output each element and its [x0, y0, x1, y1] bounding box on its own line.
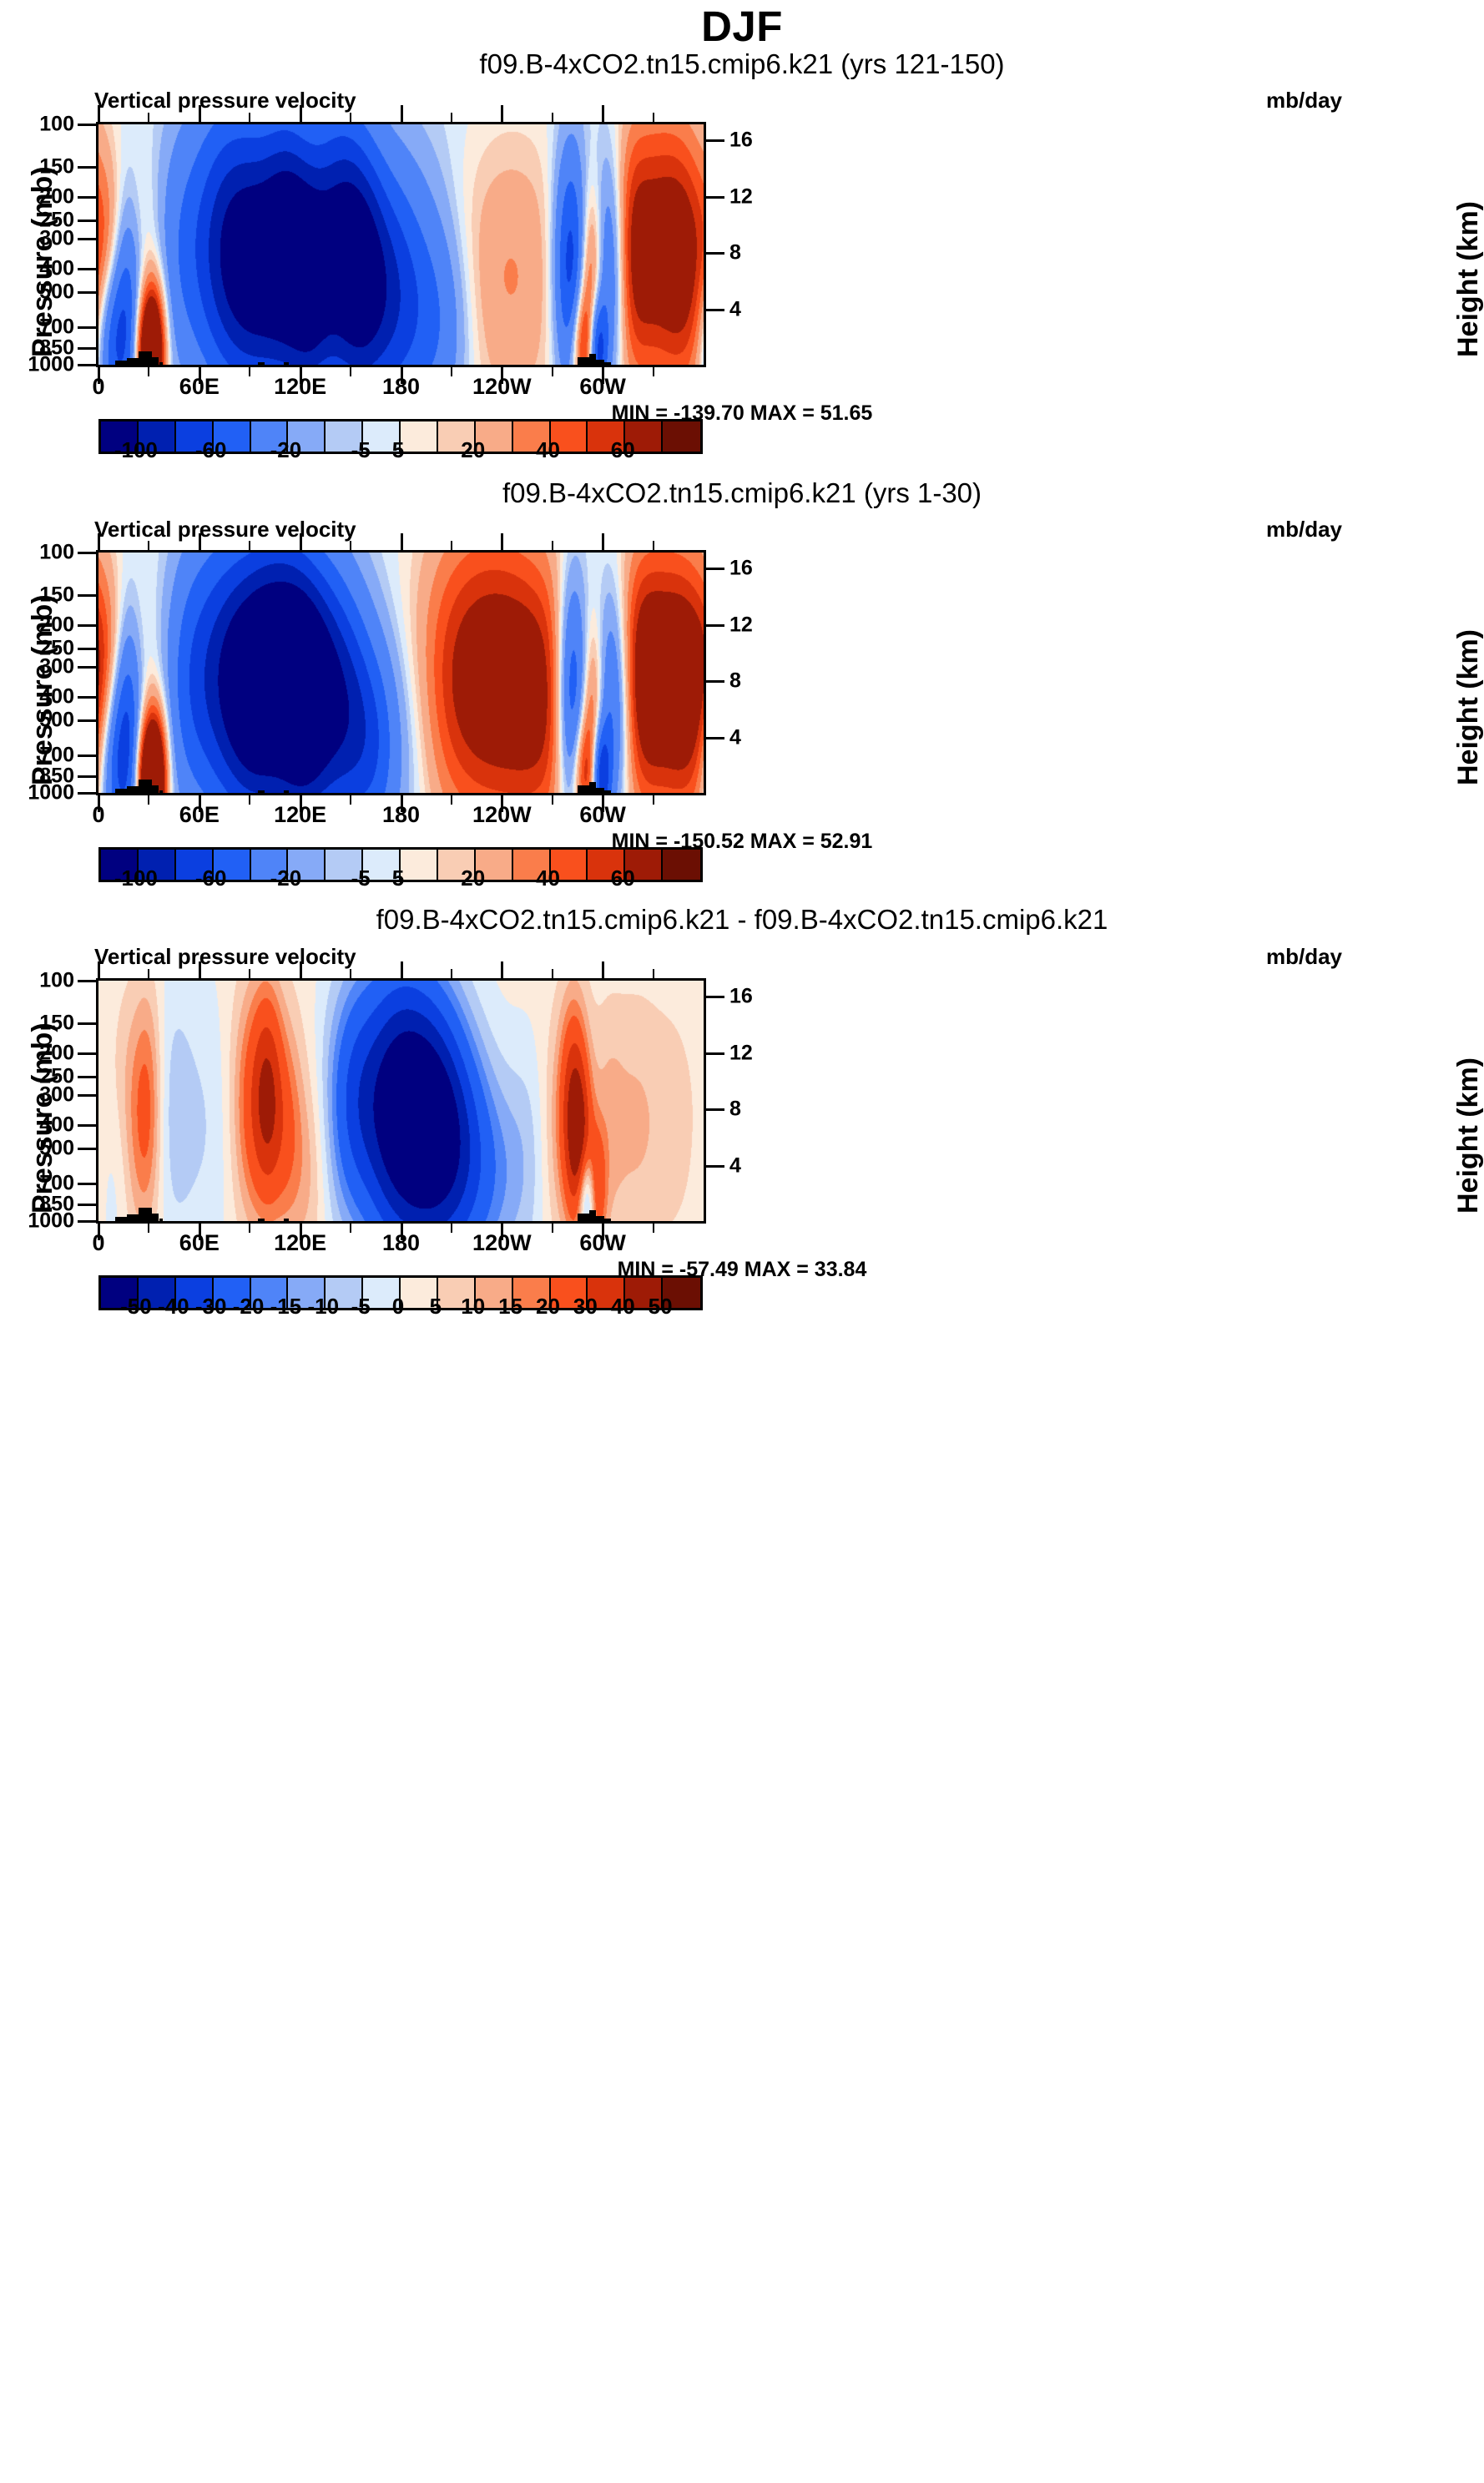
colorbar-label: 20 — [461, 866, 485, 891]
topography-mask — [258, 1219, 265, 1221]
x-tick-mark-top — [98, 533, 100, 550]
x-tick-mark-minor-top — [148, 113, 149, 122]
pressure-tick-mark — [78, 1124, 96, 1127]
x-tick-mark-minor-top — [552, 541, 553, 550]
colorbar-label: 40 — [611, 1294, 635, 1320]
topography-mask — [578, 1214, 589, 1221]
x-tick-mark-minor — [350, 1224, 351, 1233]
height-tick-mark — [706, 1108, 724, 1111]
height-tick-mark — [706, 196, 724, 199]
x-tick-mark-minor-top — [653, 541, 654, 550]
pressure-tick-mark — [78, 347, 96, 350]
x-tick-mark-minor — [451, 367, 452, 376]
topography-mask — [159, 1219, 163, 1221]
height-tick-label: 4 — [729, 726, 741, 750]
pressure-tick-mark — [78, 696, 96, 699]
x-tick-mark-top — [300, 105, 302, 122]
pressure-tick-mark — [78, 1220, 96, 1223]
x-tick-mark-minor — [148, 1224, 149, 1233]
colorbar-label: 5 — [430, 1294, 442, 1320]
x-tick-mark-top — [401, 961, 403, 978]
colorbar-cell — [401, 421, 438, 452]
height-tick-label: 12 — [729, 613, 753, 637]
height-tick-label: 16 — [729, 557, 753, 581]
colorbar-label: -20 — [270, 866, 302, 891]
topography-mask — [139, 351, 152, 365]
y-axis-title-left: Pressure (mb) — [27, 594, 59, 785]
topography-mask — [578, 785, 589, 793]
x-tick-mark-minor — [653, 795, 654, 805]
topography-mask — [115, 1217, 127, 1221]
x-tick-mark-minor — [249, 367, 250, 376]
pressure-tick-mark — [78, 124, 96, 126]
contour-field — [98, 124, 704, 365]
pressure-tick-mark — [78, 268, 96, 270]
pressure-tick-label: 100 — [39, 541, 74, 565]
plot-area — [96, 122, 706, 367]
topography-mask — [284, 1219, 289, 1221]
x-tick-label: 60E — [179, 802, 220, 828]
topography-mask — [127, 358, 139, 365]
x-tick-label: 120W — [472, 374, 532, 400]
height-tick-label: 8 — [729, 669, 741, 694]
pressure-tick-mark — [78, 166, 96, 169]
topography-mask — [115, 789, 127, 793]
colorbar-label: -15 — [270, 1294, 302, 1320]
height-tick-mark — [706, 309, 724, 311]
x-tick-mark-minor-top — [552, 113, 553, 122]
pressure-tick-mark — [78, 1148, 96, 1150]
pressure-tick-label: 100 — [39, 113, 74, 137]
pressure-tick-mark — [78, 552, 96, 554]
topography-mask — [127, 786, 139, 793]
x-tick-label: 180 — [382, 802, 420, 828]
x-tick-label: 60W — [579, 374, 626, 400]
colorbar-label: 40 — [536, 437, 560, 463]
x-tick-label: 0 — [92, 802, 104, 828]
y-axis-title-right: Height (km) — [1452, 201, 1484, 357]
colorbar-label: -5 — [351, 866, 371, 891]
units-label: mb/day — [1266, 88, 1342, 114]
height-tick-label: 8 — [729, 241, 741, 265]
colorbar-label: -5 — [351, 1294, 371, 1320]
height-tick-mark — [706, 1165, 724, 1168]
x-tick-mark-minor-top — [451, 113, 452, 122]
pressure-tick-mark — [78, 1052, 96, 1055]
pressure-tick-mark — [78, 238, 96, 240]
units-label: mb/day — [1266, 517, 1342, 543]
x-tick-mark-minor — [148, 795, 149, 805]
colorbar-label: -100 — [114, 866, 158, 891]
colorbar-label: 40 — [536, 866, 560, 891]
main-title: DJF — [0, 2, 1484, 51]
height-tick-label: 12 — [729, 184, 753, 209]
colorbar-label: 20 — [536, 1294, 560, 1320]
pressure-tick-mark — [78, 792, 96, 795]
colorbar-label: 20 — [461, 437, 485, 463]
variable-label: Vertical pressure velocity — [94, 88, 356, 114]
height-tick-mark — [706, 737, 724, 739]
x-tick-label: 120W — [472, 1230, 532, 1256]
y-axis-title-left: Pressure (mb) — [27, 1022, 59, 1214]
x-tick-mark-top — [199, 961, 201, 978]
x-tick-mark-top — [199, 105, 201, 122]
x-tick-mark-minor-top — [653, 113, 654, 122]
colorbar-label: -50 — [120, 1294, 152, 1320]
x-tick-mark-top — [602, 961, 604, 978]
x-tick-mark-minor-top — [653, 969, 654, 978]
height-tick-mark — [706, 1052, 724, 1055]
x-tick-label: 60W — [579, 802, 626, 828]
topography-mask — [604, 1219, 611, 1221]
x-tick-mark-minor — [148, 367, 149, 376]
pressure-tick-mark — [78, 196, 96, 199]
height-tick-mark — [706, 139, 724, 142]
pressure-tick-mark — [78, 1022, 96, 1025]
x-tick-mark-top — [98, 961, 100, 978]
panel-title: f09.B-4xCO2.tn15.cmip6.k21 - f09.B-4xCO2… — [0, 904, 1484, 936]
x-tick-mark-minor-top — [249, 113, 250, 122]
colorbar-label: -5 — [351, 437, 371, 463]
colorbar-label: 5 — [392, 437, 404, 463]
x-tick-mark-top — [602, 533, 604, 550]
x-tick-mark-top — [501, 533, 503, 550]
x-tick-mark-top — [300, 533, 302, 550]
panel-title: f09.B-4xCO2.tn15.cmip6.k21 (yrs 121-150) — [0, 48, 1484, 80]
x-tick-mark-minor-top — [249, 969, 250, 978]
panel-title: f09.B-4xCO2.tn15.cmip6.k21 (yrs 1-30) — [0, 477, 1484, 509]
pressure-tick-mark — [78, 666, 96, 669]
topography-mask — [127, 1214, 139, 1221]
colorbar-label: 5 — [392, 866, 404, 891]
pressure-tick-mark — [78, 1076, 96, 1078]
x-tick-mark-top — [199, 533, 201, 550]
height-tick-label: 16 — [729, 129, 753, 153]
x-tick-mark-minor-top — [148, 541, 149, 550]
pressure-tick-mark — [78, 648, 96, 650]
pressure-tick-mark — [78, 594, 96, 597]
topography-mask — [159, 790, 163, 793]
x-tick-mark-top — [300, 961, 302, 978]
colorbar-label: 10 — [461, 1294, 485, 1320]
x-tick-label: 180 — [382, 374, 420, 400]
x-tick-mark-minor — [552, 367, 553, 376]
x-tick-mark-minor-top — [249, 541, 250, 550]
colorbar-cell — [401, 850, 438, 880]
topography-mask — [589, 1210, 596, 1221]
topography-mask — [152, 785, 159, 793]
colorbar-label: 60 — [611, 437, 635, 463]
topography-mask — [604, 790, 611, 793]
pressure-tick-mark — [78, 291, 96, 294]
x-tick-label: 60W — [579, 1230, 626, 1256]
units-label: mb/day — [1266, 944, 1342, 970]
topography-mask — [258, 362, 265, 365]
colorbar-label: 60 — [611, 866, 635, 891]
colorbar-label: -60 — [195, 866, 227, 891]
topography-mask — [159, 362, 163, 365]
x-tick-mark-top — [401, 533, 403, 550]
height-tick-label: 16 — [729, 985, 753, 1009]
x-tick-label: 60E — [179, 1230, 220, 1256]
x-tick-mark-minor-top — [350, 541, 351, 550]
variable-label: Vertical pressure velocity — [94, 517, 356, 543]
pressure-tick-mark — [78, 326, 96, 329]
figure-root: DJF f09.B-4xCO2.tn15.cmip6.k21 (yrs 121-… — [0, 0, 1484, 2483]
topography-mask — [596, 1216, 604, 1221]
topography-mask — [152, 357, 159, 365]
topography-mask — [115, 361, 127, 365]
height-tick-mark — [706, 568, 724, 570]
x-tick-label: 120E — [274, 374, 326, 400]
pressure-tick-mark — [78, 754, 96, 757]
x-tick-mark-minor-top — [350, 113, 351, 122]
height-tick-mark — [706, 680, 724, 683]
x-tick-label: 0 — [92, 374, 104, 400]
colorbar-label: -20 — [270, 437, 302, 463]
x-tick-mark-top — [98, 105, 100, 122]
y-axis-title-left: Pressure (mb) — [27, 166, 59, 357]
pressure-tick-mark — [78, 1094, 96, 1097]
contour-field — [98, 981, 704, 1221]
colorbar-cell — [663, 421, 700, 452]
y-axis-title-right: Height (km) — [1452, 1057, 1484, 1214]
x-tick-mark-minor — [350, 795, 351, 805]
x-tick-mark-minor-top — [451, 969, 452, 978]
height-tick-mark — [706, 252, 724, 255]
colorbar-label: 50 — [649, 1294, 673, 1320]
variable-label: Vertical pressure velocity — [94, 944, 356, 970]
x-tick-mark-minor-top — [350, 969, 351, 978]
x-tick-mark-top — [401, 105, 403, 122]
x-tick-mark-minor-top — [148, 969, 149, 978]
x-tick-mark-minor-top — [552, 969, 553, 978]
plot-area — [96, 550, 706, 795]
x-tick-mark-minor — [653, 367, 654, 376]
x-tick-label: 0 — [92, 1230, 104, 1256]
x-tick-mark-minor — [653, 1224, 654, 1233]
colorbar-label: -20 — [233, 1294, 265, 1320]
topography-mask — [139, 780, 152, 793]
colorbar-label: 0 — [392, 1294, 404, 1320]
pressure-tick-mark — [78, 1183, 96, 1185]
plot-area — [96, 978, 706, 1224]
pressure-tick-mark — [78, 775, 96, 778]
topography-mask — [578, 357, 589, 365]
height-tick-label: 12 — [729, 1041, 753, 1065]
topography-mask — [604, 362, 611, 365]
pressure-tick-mark — [78, 1204, 96, 1206]
height-tick-mark — [706, 996, 724, 998]
topography-mask — [152, 1214, 159, 1221]
topography-mask — [589, 354, 596, 365]
topography-mask — [589, 782, 596, 793]
topography-mask — [284, 362, 289, 365]
colorbar-label: 30 — [573, 1294, 598, 1320]
x-tick-mark-minor — [451, 795, 452, 805]
contour-field — [98, 553, 704, 793]
pressure-tick-mark — [78, 719, 96, 722]
x-tick-mark-minor — [350, 367, 351, 376]
colorbar-label: -40 — [158, 1294, 189, 1320]
colorbar-label: 15 — [498, 1294, 522, 1320]
x-tick-label: 180 — [382, 1230, 420, 1256]
x-tick-label: 120E — [274, 802, 326, 828]
colorbar-label: -10 — [307, 1294, 339, 1320]
x-tick-mark-minor — [451, 1224, 452, 1233]
colorbar-label: -100 — [114, 437, 158, 463]
x-tick-mark-top — [602, 105, 604, 122]
pressure-tick-mark — [78, 980, 96, 982]
x-tick-mark-minor — [552, 1224, 553, 1233]
height-tick-label: 4 — [729, 298, 741, 322]
x-tick-label: 60E — [179, 374, 220, 400]
x-tick-mark-top — [501, 105, 503, 122]
topography-mask — [284, 790, 289, 793]
x-tick-mark-minor-top — [451, 541, 452, 550]
pressure-tick-mark — [78, 624, 96, 627]
pressure-tick-mark — [78, 364, 96, 366]
height-tick-label: 4 — [729, 1154, 741, 1178]
height-tick-label: 8 — [729, 1098, 741, 1122]
colorbar-cell — [663, 850, 700, 880]
pressure-tick-mark — [78, 220, 96, 222]
x-tick-mark-top — [501, 961, 503, 978]
pressure-tick-label: 100 — [39, 969, 74, 993]
x-tick-mark-minor — [249, 1224, 250, 1233]
x-tick-mark-minor — [552, 795, 553, 805]
height-tick-mark — [706, 624, 724, 627]
topography-mask — [139, 1208, 152, 1221]
y-axis-title-right: Height (km) — [1452, 629, 1484, 785]
topography-mask — [258, 790, 265, 793]
x-tick-label: 120W — [472, 802, 532, 828]
topography-mask — [596, 360, 604, 365]
colorbar-label: -60 — [195, 437, 227, 463]
colorbar-label: -30 — [195, 1294, 227, 1320]
x-tick-label: 120E — [274, 1230, 326, 1256]
topography-mask — [596, 788, 604, 793]
x-tick-mark-minor — [249, 795, 250, 805]
